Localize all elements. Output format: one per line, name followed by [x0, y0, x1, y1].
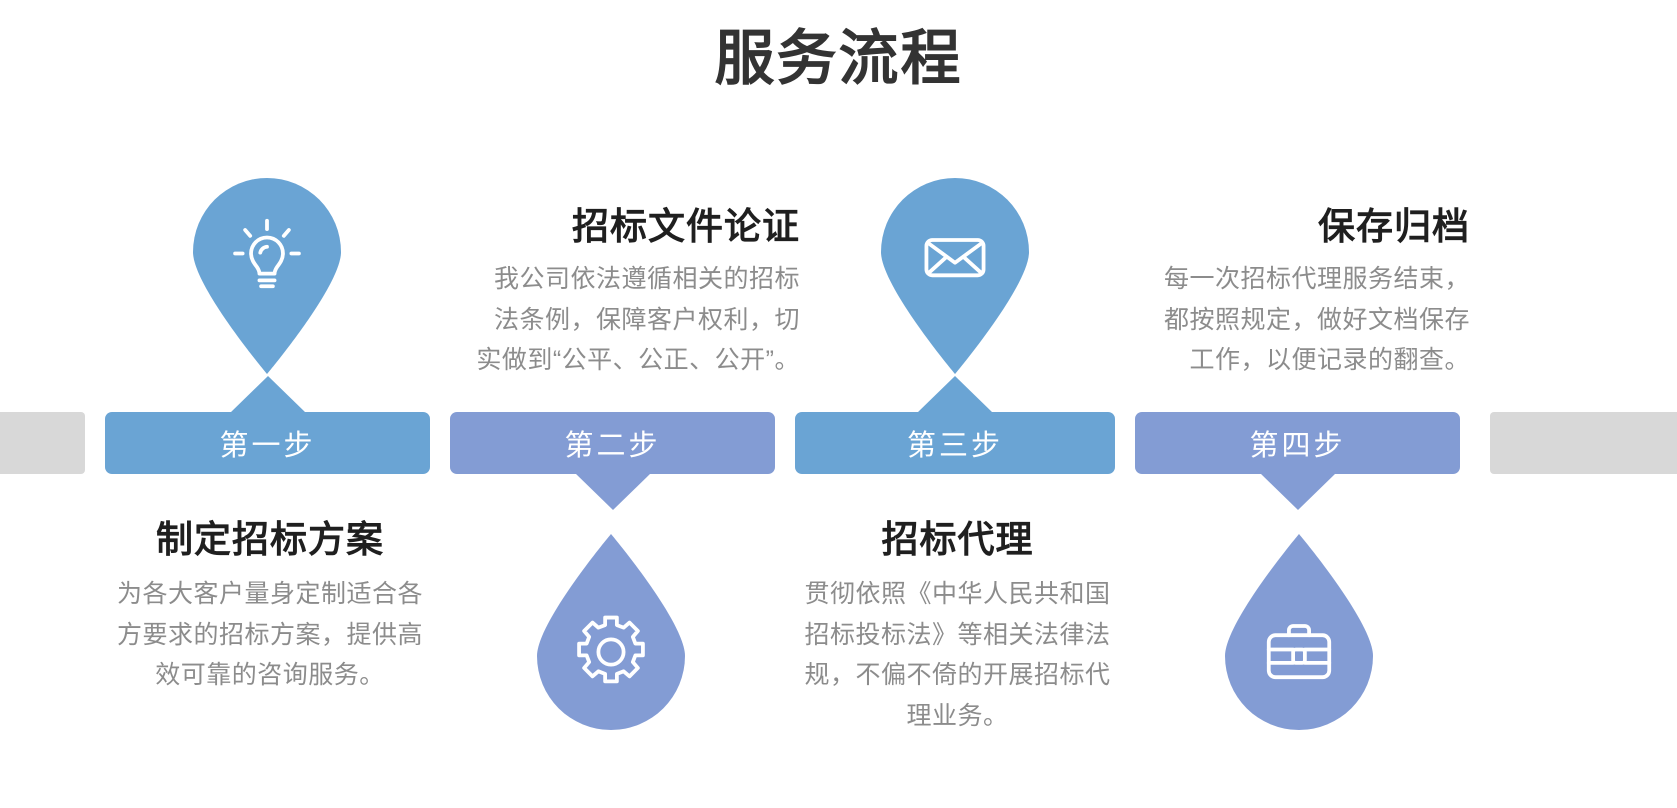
pin-step-4: [1225, 534, 1373, 730]
body-step-1: 为各大客户量身定制适合各 方要求的招标方案，提供高 效可靠的咨询服务。: [75, 574, 465, 696]
content-step-3: 招标代理 贯彻依照《中华人民共和国 招标投标法》等相关法律法 规，不偏不倚的开展…: [760, 518, 1155, 736]
body-line: 每一次招标代理服务结束，: [1090, 259, 1470, 300]
step-bar-row: 第一步 第二步 第三步 第四步: [0, 412, 1677, 474]
step-bar-2[interactable]: 第二步: [450, 412, 775, 474]
step-bar-3[interactable]: 第三步: [795, 412, 1115, 474]
step-bar-4[interactable]: 第四步: [1135, 412, 1460, 474]
content-step-2: 招标文件论证 我公司依法遵循相关的招标 法条例，保障客户权利，切 实做到“公平、…: [420, 205, 800, 381]
pin-step-3: [881, 178, 1029, 374]
heading-step-1: 制定招标方案: [75, 518, 465, 562]
step-arrow-down-2: [575, 473, 651, 510]
step-bar-label-4: 第四步: [1249, 422, 1345, 464]
body-line: 都按照规定，做好文档保存: [1090, 300, 1470, 341]
step-bar-1[interactable]: 第一步: [105, 412, 430, 474]
lightbulb-icon: [225, 214, 309, 298]
heading-step-4: 保存归档: [1090, 205, 1470, 249]
pin-step-2: [537, 534, 685, 730]
heading-step-3: 招标代理: [760, 518, 1155, 562]
content-step-1: 制定招标方案 为各大客户量身定制适合各 方要求的招标方案，提供高 效可靠的咨询服…: [75, 518, 465, 696]
pin-step-1: [193, 178, 341, 374]
body-step-4: 每一次招标代理服务结束， 都按照规定，做好文档保存 工作，以便记录的翻查。: [1090, 259, 1470, 381]
step-bar-label-3: 第三步: [907, 422, 1003, 464]
body-line: 规，不偏不倚的开展招标代: [760, 655, 1155, 696]
body-line: 法条例，保障客户权利，切: [420, 300, 800, 341]
page-title: 服务流程: [0, 26, 1677, 92]
gear-icon: [569, 610, 653, 694]
edge-block-left: [0, 412, 85, 474]
body-line: 为各大客户量身定制适合各: [75, 574, 465, 615]
infographic-canvas: 服务流程: [0, 0, 1677, 808]
content-step-4: 保存归档 每一次招标代理服务结束， 都按照规定，做好文档保存 工作，以便记录的翻…: [1090, 205, 1470, 381]
step-arrow-up-3: [917, 376, 993, 413]
envelope-icon: [913, 214, 997, 298]
briefcase-icon: [1257, 610, 1341, 694]
step-bar-label-2: 第二步: [564, 422, 660, 464]
body-line: 实做到“公平、公正、公开”。: [420, 340, 800, 381]
body-line: 我公司依法遵循相关的招标: [420, 259, 800, 300]
edge-block-right: [1490, 412, 1677, 474]
body-line: 招标投标法》等相关法律法: [760, 615, 1155, 656]
body-line: 理业务。: [760, 696, 1155, 737]
body-line: 贯彻依照《中华人民共和国: [760, 574, 1155, 615]
body-step-3: 贯彻依照《中华人民共和国 招标投标法》等相关法律法 规，不偏不倚的开展招标代 理…: [760, 574, 1155, 736]
step-arrow-up-1: [230, 376, 306, 413]
step-arrow-down-4: [1260, 473, 1336, 510]
body-line: 方要求的招标方案，提供高: [75, 615, 465, 656]
step-bar-label-1: 第一步: [219, 422, 315, 464]
heading-step-2: 招标文件论证: [420, 205, 800, 249]
body-step-2: 我公司依法遵循相关的招标 法条例，保障客户权利，切 实做到“公平、公正、公开”。: [420, 259, 800, 381]
body-line: 工作，以便记录的翻查。: [1090, 340, 1470, 381]
body-line: 效可靠的咨询服务。: [75, 655, 465, 696]
